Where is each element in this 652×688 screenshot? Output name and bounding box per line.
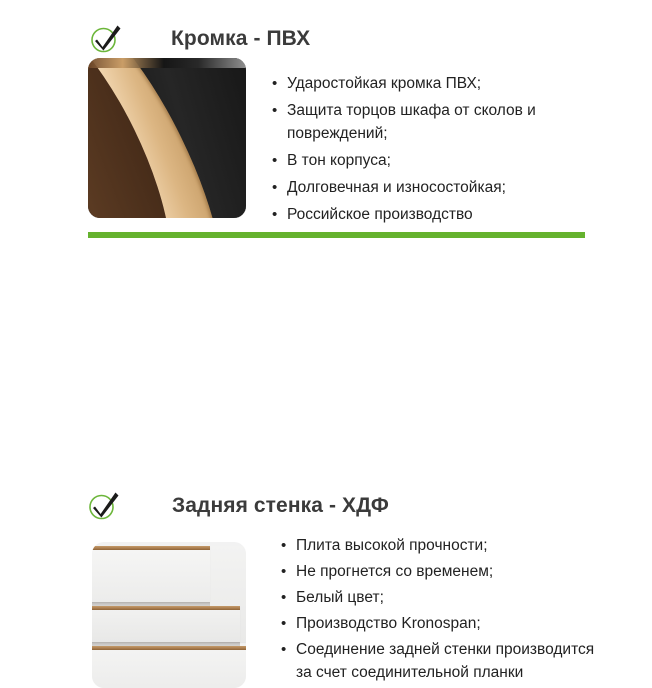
feature-list-edge: Ударостойкая кромка ПВХ; Защита торцов ш… xyxy=(272,72,602,230)
edge-strip-topline xyxy=(88,58,246,68)
section-title-back: Задняя стенка - ХДФ xyxy=(172,495,389,516)
list-item: Производство Kronospan; xyxy=(281,612,611,635)
section-divider xyxy=(88,232,585,238)
list-item: Белый цвет; xyxy=(281,586,611,609)
feature-list-back: Плита высокой прочности; Не прогнется со… xyxy=(281,534,611,687)
hdf-panel-edge xyxy=(92,546,210,550)
photo-edge-inner xyxy=(88,58,246,218)
list-item: Не прогнется со временем; xyxy=(281,560,611,583)
hdf-panel-top xyxy=(92,546,210,602)
green-check-circle-icon xyxy=(86,487,122,523)
photo-edge-banding xyxy=(88,58,246,218)
photo-hdf-inner xyxy=(92,542,246,688)
list-item: Долговечная и износостойкая; xyxy=(272,176,602,199)
photo-hdf-panels xyxy=(92,542,246,688)
list-item: В тон корпуса; xyxy=(272,149,602,172)
product-features-page: Кромка - ПВХ Ударостойкая кромка ПВХ; За… xyxy=(0,0,652,500)
hdf-panel-bottom xyxy=(92,646,246,688)
section-header-edge: Кромка - ПВХ xyxy=(88,20,310,56)
hdf-panel-edge xyxy=(92,606,240,610)
green-check-circle-icon xyxy=(88,20,124,56)
hdf-panel-edge xyxy=(92,646,246,650)
list-item: Соединение задней стенки производится за… xyxy=(281,638,611,684)
section-header-back: Задняя стенка - ХДФ xyxy=(86,487,389,523)
list-item: Защита торцов шкафа от сколов и поврежде… xyxy=(272,99,602,145)
list-item: Плита высокой прочности; xyxy=(281,534,611,557)
list-item: Российское производство xyxy=(272,203,602,226)
hdf-panel-middle xyxy=(92,606,240,642)
list-item: Ударостойкая кромка ПВХ; xyxy=(272,72,602,95)
section-title-edge: Кромка - ПВХ xyxy=(171,28,310,49)
